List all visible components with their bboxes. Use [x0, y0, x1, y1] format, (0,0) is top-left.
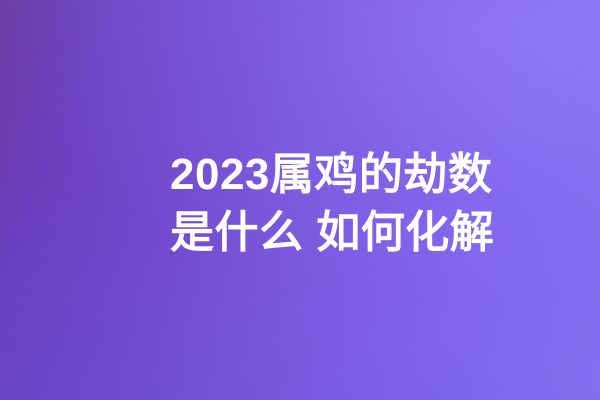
headline-text: 2023属鸡的劫数 是什么 如何化解 — [170, 146, 570, 262]
headline-line-1: 2023属鸡的劫数 — [170, 146, 570, 204]
poster-canvas: 2023属鸡的劫数 是什么 如何化解 — [0, 0, 600, 400]
headline-line-2: 是什么 如何化解 — [170, 204, 570, 262]
